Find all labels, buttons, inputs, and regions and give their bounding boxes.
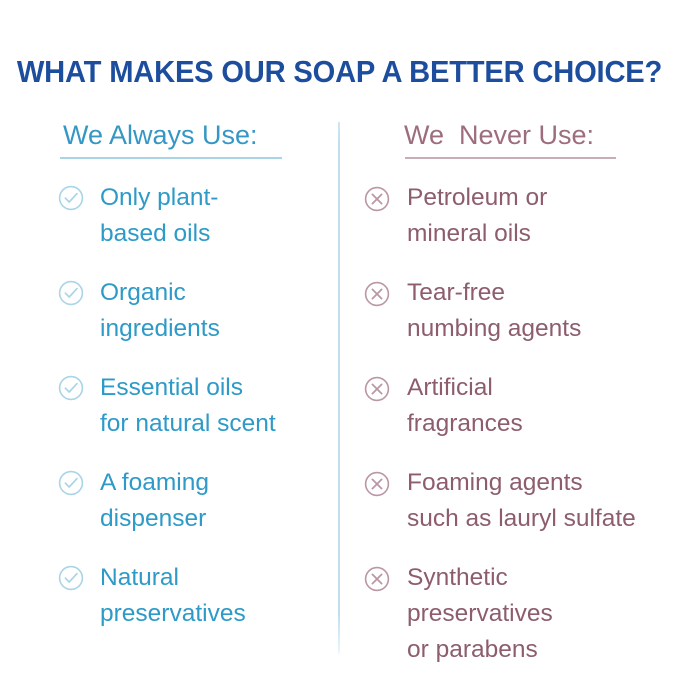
always-use-header: We Always Use: <box>58 118 330 152</box>
list-item: Organic ingredients <box>58 275 330 370</box>
list-item-label: Petroleum or mineral oils <box>407 180 662 252</box>
list-item: Petroleum or mineral oils <box>362 180 662 275</box>
page-title: WHAT MAKES OUR SOAP A BETTER CHOICE? <box>15 55 663 90</box>
list-item: Foaming agents such as lauryl sulfate <box>362 465 662 560</box>
list-item-label: Natural preservatives <box>100 560 330 632</box>
never-use-column: We Never Use: Petroleum or mineral oils <box>362 118 662 668</box>
list-item: Synthetic preservatives or parabens <box>362 560 662 668</box>
list-item: Only plant- based oils <box>58 180 330 275</box>
check-circle-icon <box>58 565 84 591</box>
list-item-label: Synthetic preservatives or parabens <box>407 560 662 668</box>
list-item-label: Foaming agents such as lauryl sulfate <box>407 465 662 537</box>
list-item-label: A foaming dispenser <box>100 465 330 537</box>
list-item: Natural preservatives <box>58 560 330 655</box>
list-item-label: Organic ingredients <box>100 275 330 347</box>
x-circle-icon <box>364 566 390 592</box>
list-item: Tear-free numbing agents <box>362 275 662 370</box>
list-item: Essential oils for natural scent <box>58 370 330 465</box>
always-use-header-rule <box>60 157 282 159</box>
x-circle-icon <box>364 281 390 307</box>
list-item-label: Essential oils for natural scent <box>100 370 330 442</box>
check-circle-icon <box>58 280 84 306</box>
x-circle-icon <box>364 376 390 402</box>
check-circle-icon <box>58 185 84 211</box>
list-item: Artificial fragrances <box>362 370 662 465</box>
list-item-label: Artificial fragrances <box>407 370 662 442</box>
comparison-infographic: WHAT MAKES OUR SOAP A BETTER CHOICE? We … <box>0 0 679 679</box>
never-use-header: We Never Use: <box>362 118 662 152</box>
check-circle-icon <box>58 375 84 401</box>
list-item-label: Only plant- based oils <box>100 180 330 252</box>
always-use-list: Only plant- based oils Organic ingredien… <box>58 180 330 655</box>
column-divider <box>338 122 340 656</box>
always-use-column: We Always Use: Only plant- based oils <box>58 118 330 655</box>
list-item-label: Tear-free numbing agents <box>407 275 662 347</box>
never-use-header-rule <box>405 157 616 159</box>
x-circle-icon <box>364 471 390 497</box>
never-use-list: Petroleum or mineral oils Tear-free numb… <box>362 180 662 668</box>
x-circle-icon <box>364 186 390 212</box>
check-circle-icon <box>58 470 84 496</box>
list-item: A foaming dispenser <box>58 465 330 560</box>
